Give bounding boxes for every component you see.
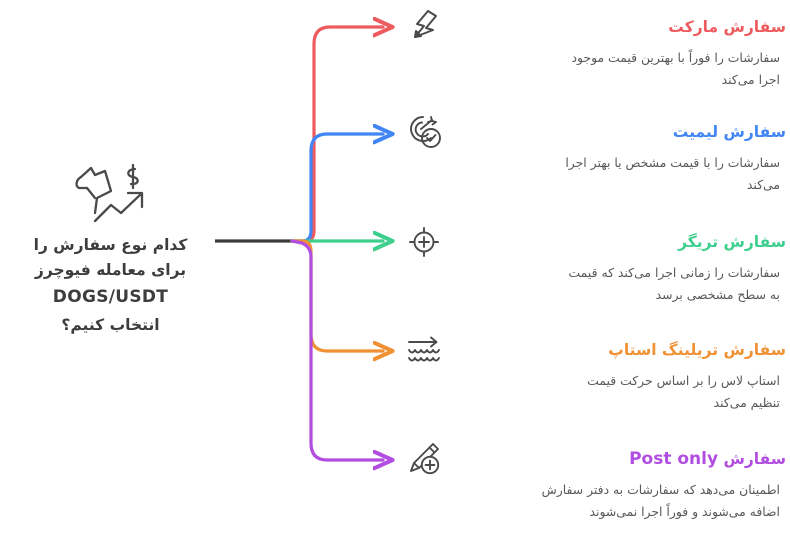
lightning-bolt-icon [396, 8, 452, 46]
trading-pair-label: DOGS/USDT [8, 284, 213, 312]
branch-limit-order-description: سفارشات را با قیمت مشخص یا بهتر اجرا می‌… [396, 152, 786, 195]
desc-line-1: سفارشات را با قیمت مشخص یا بهتر اجرا [492, 152, 780, 174]
branch-market-order-head: سفارش مارکت [396, 8, 786, 46]
branch-market-order-title: سفارش مارکت [452, 18, 786, 37]
branch-trailing-stop-order-title-text: سفارش تریلینگ استاپ [608, 341, 786, 359]
branch-trailing-stop-order-title: سفارش تریلینگ استاپ [452, 341, 786, 360]
root-line-1: کدام نوع سفارش را [8, 233, 213, 258]
branch-post-only-order-title-latin: Post only [629, 449, 718, 469]
connector-market-order [292, 27, 383, 241]
dog-dollar-chart-icon [8, 155, 213, 227]
branch-market-order[interactable]: سفارش مارکت سفارشات را فوراً با بهترین ق… [396, 8, 786, 90]
crosshair-plus-icon [396, 225, 452, 259]
branch-trigger-order-description: سفارشات را زمانی اجرا می‌کند که قیمت به … [396, 262, 786, 305]
branch-limit-order-head: سفارش لیمیت [396, 113, 786, 151]
target-dart-check-icon [396, 113, 452, 151]
branch-limit-order-title: سفارش لیمیت [452, 123, 786, 142]
branch-trailing-stop-order[interactable]: سفارش تریلینگ استاپ استاپ لاس را بر اساس… [396, 331, 786, 413]
pencil-plus-icon [396, 441, 452, 477]
branch-trailing-stop-order-head: سفارش تریلینگ استاپ [396, 331, 786, 369]
root-line-2: برای معامله فیوچرز [8, 258, 213, 283]
branch-trailing-stop-order-description: استاپ لاس را بر اساس حرکت قیمت تنظیم می‌… [396, 370, 786, 413]
desc-line-2: به سطح مشخصی برسد [488, 284, 780, 306]
desc-line-1: اطمینان می‌دهد که سفارشات به دفتر سفارش [432, 479, 780, 501]
branch-post-only-order-title: سفارش Post only [452, 449, 786, 469]
diagram-canvas: کدام نوع سفارش را برای معامله فیوچرز DOG… [0, 0, 790, 542]
root-node: کدام نوع سفارش را برای معامله فیوچرز DOG… [8, 155, 213, 338]
branch-trigger-order-head: سفارش تریگر [396, 223, 786, 261]
connector-limit-order [292, 134, 383, 241]
branch-market-order-description: سفارشات را فوراً با بهترین قیمت موجود اج… [396, 47, 786, 90]
desc-line-2: اجرا می‌کند [456, 69, 780, 91]
branch-market-order-title-text: سفارش مارکت [668, 18, 786, 36]
branch-trigger-order[interactable]: سفارش تریگر سفارشات را زمانی اجرا می‌کند… [396, 223, 786, 305]
branch-post-only-order[interactable]: سفارش Post only اطمینان می‌دهد که سفارشا… [396, 440, 786, 522]
branch-trigger-order-title: سفارش تریگر [452, 233, 786, 252]
desc-line-2: می‌کند [492, 174, 780, 196]
desc-line-2: اضافه می‌شوند و فوراً اجرا نمی‌شوند [432, 501, 780, 523]
connector-trailing-stop-order [292, 241, 383, 351]
arrow-over-waves-icon [396, 333, 452, 367]
desc-line-1: سفارشات را فوراً با بهترین قیمت موجود [456, 47, 780, 69]
root-line-4: انتخاب کنیم؟ [8, 313, 213, 338]
root-question-text: کدام نوع سفارش را برای معامله فیوچرز DOG… [8, 233, 213, 338]
branch-trigger-order-title-text: سفارش تریگر [678, 233, 786, 251]
desc-line-2: تنظیم می‌کند [496, 392, 780, 414]
branch-post-only-order-head: سفارش Post only [396, 440, 786, 478]
branch-post-only-order-title-text: سفارش [723, 450, 786, 468]
branch-post-only-order-description: اطمینان می‌دهد که سفارشات به دفتر سفارش … [396, 479, 786, 522]
desc-line-1: استاپ لاس را بر اساس حرکت قیمت [496, 370, 780, 392]
desc-line-1: سفارشات را زمانی اجرا می‌کند که قیمت [488, 262, 780, 284]
branch-limit-order[interactable]: سفارش لیمیت سفارشات را با قیمت مشخص یا ب… [396, 113, 786, 195]
branch-limit-order-title-text: سفارش لیمیت [673, 123, 786, 141]
connector-post-only-order [292, 241, 383, 460]
